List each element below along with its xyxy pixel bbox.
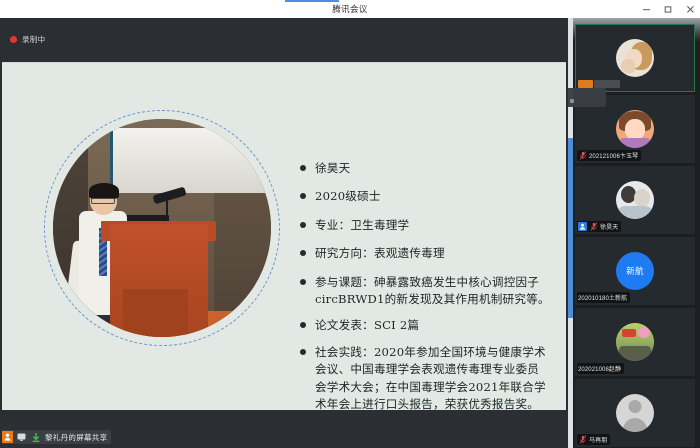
participant-name-plate: 202021008赵静 — [577, 363, 624, 374]
participant-tiles: 正在讲话: 黎礼丹 202121006卞玉琴 — [575, 24, 697, 448]
participant-name-plate — [594, 80, 620, 88]
audio-wave-icon — [568, 93, 574, 103]
title-bar-accent — [285, 0, 339, 2]
participant-name-plate: 202121006卞玉琴 — [577, 150, 641, 161]
title-bar: 腾讯会议 — [0, 0, 700, 18]
participant-name: 马再朋 — [589, 435, 607, 444]
participant-tile[interactable]: 马再朋 — [575, 379, 695, 447]
participant-name: 202010180土新航 — [578, 293, 627, 302]
participant-tile[interactable]: 徐昊天 — [575, 166, 695, 234]
avatar — [616, 181, 654, 219]
list-item: 2020级硕士 — [300, 188, 550, 205]
bullet-dot-icon — [300, 250, 306, 256]
bullet-dot-icon — [300, 349, 306, 355]
record-dot-icon — [10, 36, 17, 43]
host-badge-icon — [578, 222, 587, 231]
list-item: 社会实践：2020年参加全国环境与健康学术会议、中国毒理学会表观遗传毒理专业委员… — [300, 344, 550, 410]
list-item: 研究方向：表观遗传毒理 — [300, 245, 550, 262]
avatar-initials: 新航 — [626, 265, 644, 277]
list-item: 参与课题：砷暴露致癌发生中核心调控因子circBRWD1的新发现及其作用机制研究… — [300, 274, 550, 309]
mic-muted-icon — [578, 435, 587, 444]
participant-tile[interactable]: 202021008赵静 — [575, 308, 695, 376]
avatar: 新航 — [616, 252, 654, 290]
bullet-dot-icon — [300, 279, 306, 285]
mic-muted-icon — [589, 222, 598, 231]
bullet-text: 徐昊天 — [315, 160, 350, 177]
presenter-photo — [44, 110, 280, 346]
participant-name: 徐昊天 — [600, 222, 618, 231]
window-controls — [641, 0, 696, 18]
bullet-dot-icon — [300, 322, 306, 328]
participant-name-plate: 马再朋 — [577, 434, 610, 445]
participant-sidebar[interactable]: 正在讲话: 黎礼丹 202121006卞玉琴 — [568, 18, 700, 448]
recording-label: 录制中 — [22, 34, 45, 45]
slide-bullet-list: 徐昊天 2020级硕士 专业：卫生毒理学 研究方向：表观遗传毒理 参与课题：砷暴… — [300, 160, 550, 410]
participant-name: 202121006卞玉琴 — [589, 151, 638, 160]
speaking-tooltip: 正在讲话: 黎礼丹 — [568, 88, 606, 107]
minimize-icon[interactable] — [641, 4, 652, 15]
participant-name: 202021008赵静 — [578, 364, 621, 373]
bullet-dot-icon — [300, 222, 306, 228]
monitor-icon — [16, 431, 27, 443]
bullet-dot-icon — [300, 193, 306, 199]
window-title: 腾讯会议 — [332, 3, 368, 15]
bullet-text: 2020级硕士 — [315, 188, 381, 205]
bullet-text: 论文发表：SCI 2篇 — [315, 317, 419, 334]
participant-name-plate: 202010180土新航 — [577, 292, 630, 303]
photo-image — [53, 119, 271, 337]
tencent-meeting-window: 腾讯会议 录制中 — [0, 0, 700, 448]
shared-slide: 徐昊天 2020级硕士 专业：卫生毒理学 研究方向：表观遗传毒理 参与课题：砷暴… — [2, 62, 566, 410]
close-icon[interactable] — [685, 4, 696, 15]
participant-name-plate: 徐昊天 — [577, 221, 621, 232]
download-icon — [30, 431, 41, 443]
participant-tile[interactable]: 新航 202010180土新航 — [575, 237, 695, 305]
bullet-text: 专业：卫生毒理学 — [315, 217, 409, 234]
mic-muted-icon — [578, 151, 587, 160]
list-item: 徐昊天 — [300, 160, 550, 177]
shared-screen-stage[interactable]: 录制中 — [0, 18, 568, 448]
sidebar-scrollbar-track[interactable] — [568, 18, 573, 448]
slide-top-divider — [2, 62, 566, 63]
avatar — [616, 39, 654, 77]
avatar — [616, 394, 654, 432]
person-icon — [2, 431, 13, 443]
list-item: 专业：卫生毒理学 — [300, 217, 550, 234]
avatar — [616, 323, 654, 361]
bullet-text: 参与课题：砷暴露致癌发生中核心调控因子circBRWD1的新发现及其作用机制研究… — [315, 274, 550, 309]
participant-tile-active-speaker[interactable] — [575, 24, 695, 92]
sidebar-scrollbar-thumb[interactable] — [568, 138, 573, 318]
recording-indicator: 录制中 — [10, 34, 45, 45]
screen-share-label: 黎礼丹的屏幕共享 — [44, 432, 107, 443]
avatar — [616, 110, 654, 148]
bullet-dot-icon — [300, 165, 306, 171]
list-item: 论文发表：SCI 2篇 — [300, 317, 550, 334]
screen-share-badge: 黎礼丹的屏幕共享 — [2, 430, 111, 444]
bullet-text: 社会实践：2020年参加全国环境与健康学术会议、中国毒理学会表观遗传毒理专业委员… — [315, 344, 550, 410]
restore-icon[interactable] — [663, 4, 674, 15]
bullet-text: 研究方向：表观遗传毒理 — [315, 245, 445, 262]
speaking-level-bar — [578, 80, 593, 88]
